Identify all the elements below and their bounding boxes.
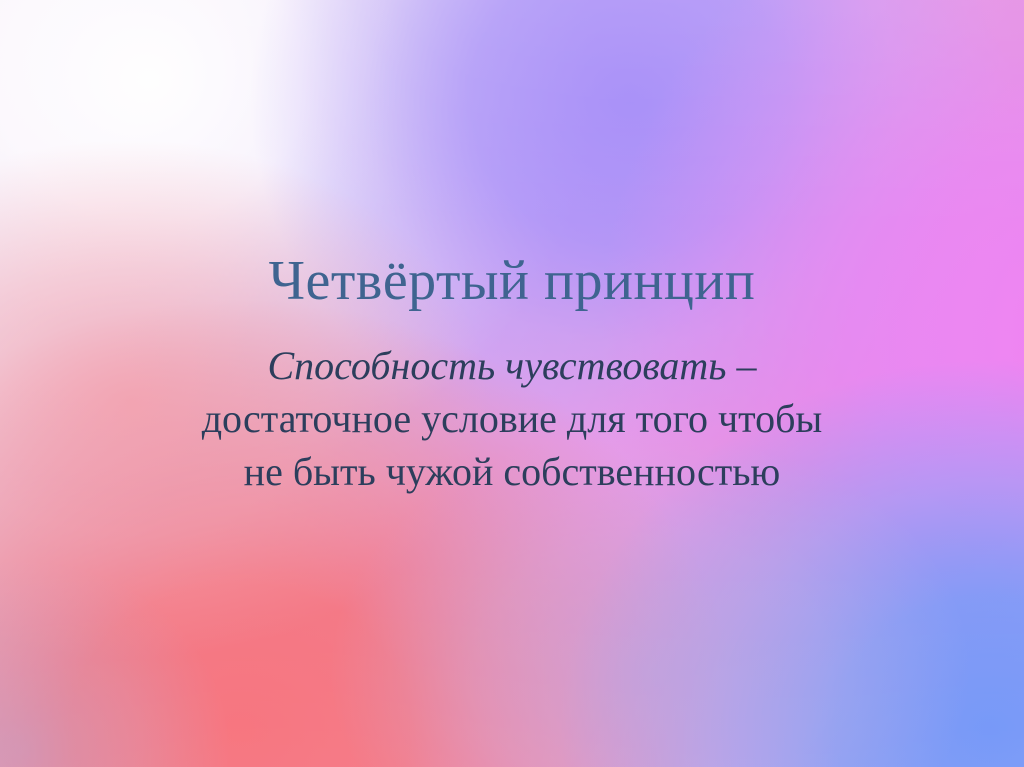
slide-body-line-3: не быть чужой собственностью bbox=[0, 446, 1024, 499]
slide-body-line-1: Способность чувствовать – bbox=[0, 340, 1024, 393]
slide-body-line-2: достаточное условие для того чтобы bbox=[0, 393, 1024, 446]
slide-body: Способность чувствовать – достаточное ус… bbox=[0, 340, 1024, 498]
slide-title: Четвёртый принцип bbox=[0, 252, 1024, 311]
slide-content: Четвёртый принцип Способность чувствоват… bbox=[0, 0, 1024, 767]
presentation-slide: Четвёртый принцип Способность чувствоват… bbox=[0, 0, 1024, 767]
